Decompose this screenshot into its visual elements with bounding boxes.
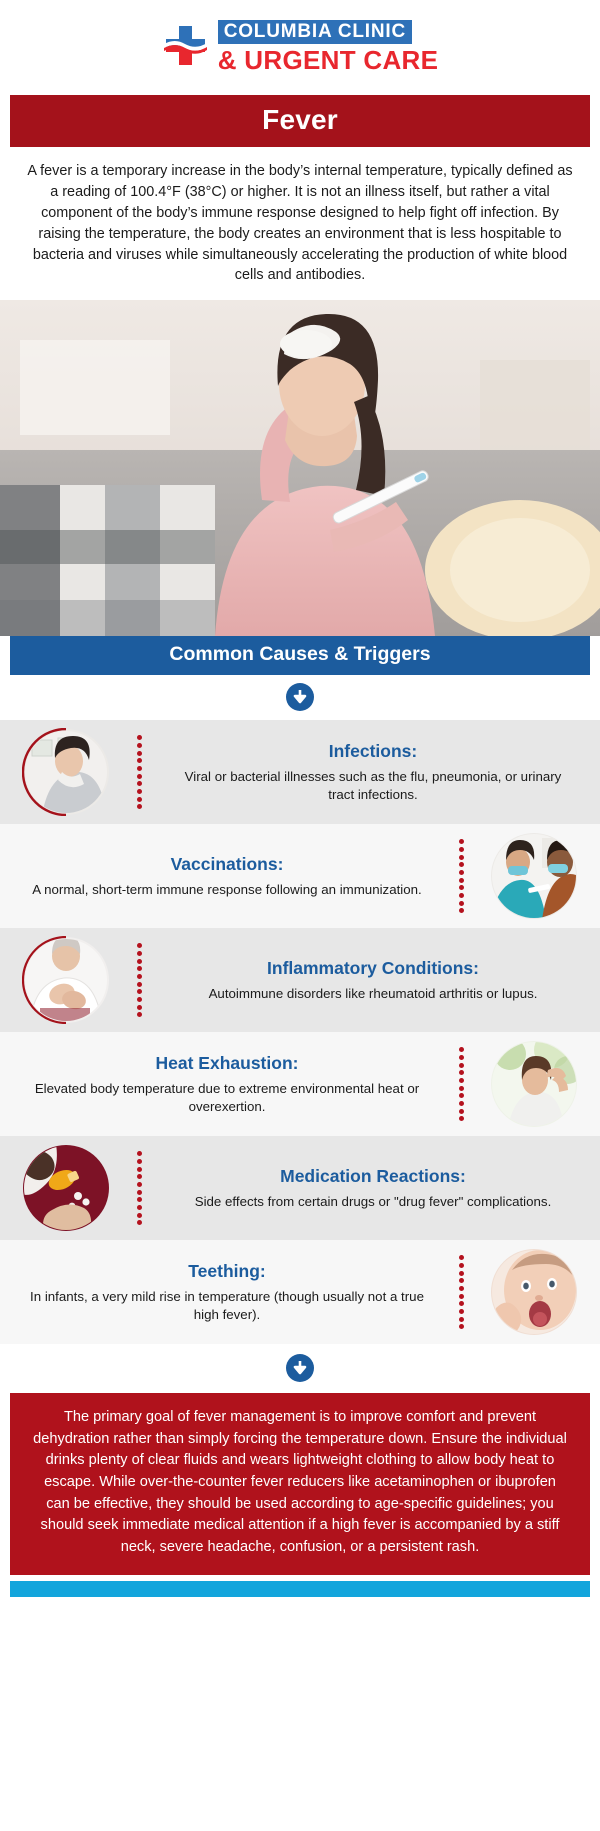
cause-row: Infections: Viral or bacterial illnesses… [0, 720, 600, 824]
cause-text: Vaccinations: A normal, short-term immun… [22, 854, 432, 899]
hand-pouring-pills-from-bottle-photo [22, 1144, 110, 1232]
cause-text: Inflammatory Conditions: Autoimmune diso… [168, 958, 578, 1003]
cause-text: Infections: Viral or bacterial illnesses… [168, 741, 578, 804]
nurse-giving-vaccine-photo [490, 832, 578, 920]
intro-paragraph: A fever is a temporary increase in the b… [0, 147, 600, 300]
cause-description: Side effects from certain drugs or "drug… [174, 1193, 572, 1211]
cause-title: Teething: [28, 1261, 426, 1283]
cause-description: Viral or bacterial illnesses such as the… [174, 768, 572, 804]
cause-title: Vaccinations: [28, 854, 426, 876]
causes-list: Infections: Viral or bacterial illnesses… [0, 720, 600, 1344]
dotted-divider [136, 943, 142, 1017]
cause-title: Inflammatory Conditions: [174, 958, 572, 980]
footer-accent-bar [10, 1581, 590, 1597]
cause-description: A normal, short-term immune response fol… [28, 881, 426, 899]
cause-row: Teething: In infants, a very mild rise i… [0, 1240, 600, 1344]
cause-text: Heat Exhaustion: Elevated body temperatu… [22, 1053, 432, 1116]
brand-header: COLUMBIA CLINIC & URGENT CARE [0, 0, 600, 95]
cause-row: Medication Reactions: Side effects from … [0, 1136, 600, 1240]
cause-description: In infants, a very mild rise in temperat… [28, 1288, 426, 1324]
woman-sneezing-photo [22, 728, 110, 816]
cause-title: Infections: [174, 741, 572, 763]
logo-wordmark: COLUMBIA CLINIC & URGENT CARE [218, 20, 439, 75]
logo-line-urgent-care: & URGENT CARE [218, 46, 439, 75]
section-arrow-row [0, 675, 600, 720]
cause-text: Teething: In infants, a very mild rise i… [22, 1261, 432, 1324]
dotted-divider [136, 735, 142, 809]
logo: COLUMBIA CLINIC & URGENT CARE [162, 20, 439, 75]
down-arrow-circle-icon [286, 683, 314, 711]
cause-description: Elevated body temperature due to extreme… [28, 1080, 426, 1116]
dotted-divider [458, 1255, 464, 1329]
footer-arrow-row [0, 1344, 600, 1393]
medical-cross-icon [162, 24, 209, 71]
page-title: Fever [10, 95, 590, 147]
cause-text: Medication Reactions: Side effects from … [168, 1166, 578, 1211]
footer-management-text: The primary goal of fever management is … [10, 1393, 590, 1575]
dotted-divider [136, 1151, 142, 1225]
cause-row: Vaccinations: A normal, short-term immun… [0, 824, 600, 928]
logo-line-clinic: COLUMBIA CLINIC [218, 20, 412, 44]
cause-title: Heat Exhaustion: [28, 1053, 426, 1075]
person-rubbing-painful-hands-photo [22, 936, 110, 1024]
hero-photo [0, 300, 600, 636]
cause-row: Heat Exhaustion: Elevated body temperatu… [0, 1032, 600, 1136]
dotted-divider [458, 839, 464, 913]
cause-description: Autoimmune disorders like rheumatoid art… [174, 985, 572, 1003]
down-arrow-circle-icon [286, 1354, 314, 1382]
baby-face-photo [490, 1248, 578, 1336]
dotted-divider [458, 1047, 464, 1121]
section-banner-causes: Common Causes & Triggers [10, 636, 590, 675]
infographic-page: COLUMBIA CLINIC & URGENT CARE Fever A fe… [0, 0, 600, 1831]
cause-title: Medication Reactions: [174, 1166, 572, 1188]
cause-row: Inflammatory Conditions: Autoimmune diso… [0, 928, 600, 1032]
woman-overheating-outdoors-photo [490, 1040, 578, 1128]
